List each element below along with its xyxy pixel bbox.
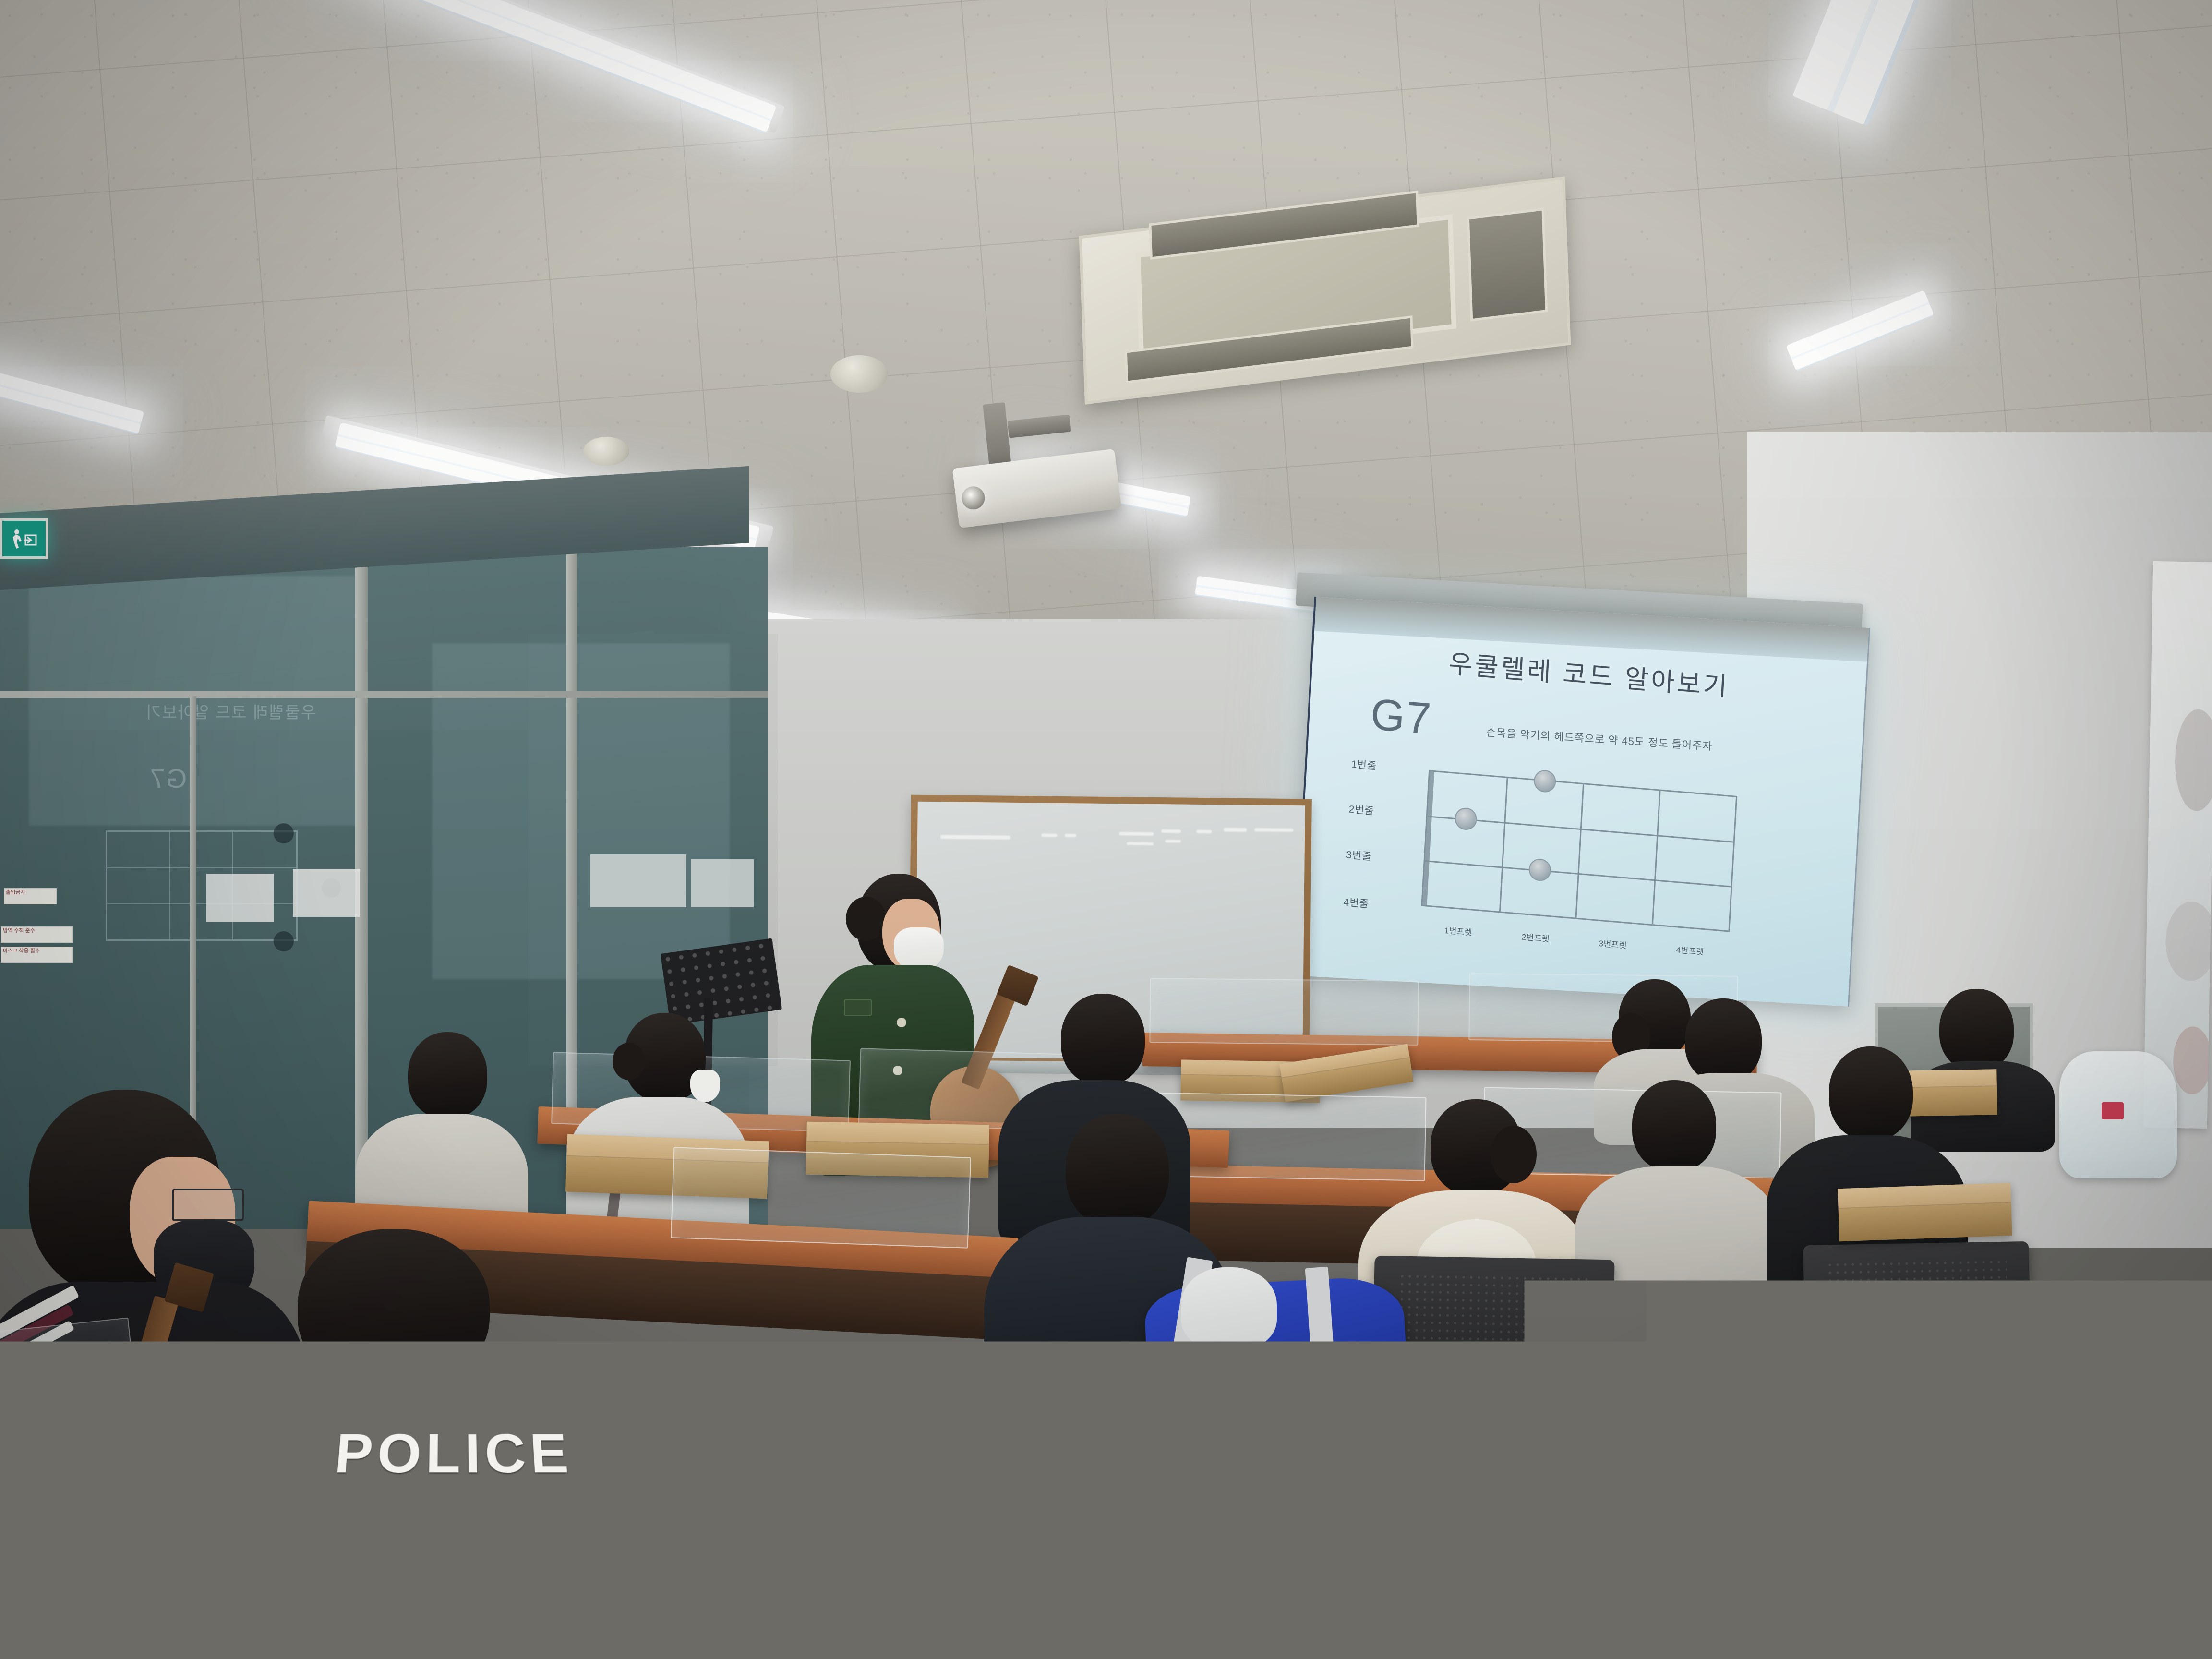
string-label-2: 2번줄 [1348, 802, 1375, 818]
chair [1290, 1561, 1743, 1659]
reflected-finger-dot [274, 931, 294, 951]
finger-dot-string3-fret2 [1528, 858, 1551, 882]
slide-chord-name: G7 [1369, 689, 1433, 745]
jacket-sleeve-right [614, 1407, 744, 1659]
projection-screen: 우쿨렐레 코드 알아보기 G7 손목을 악기의 헤드쪽으로 약 45도 정도 틀… [1293, 597, 1870, 1007]
jacket-pocket-flap [844, 999, 872, 1016]
classroom-photo: 우쿨렐레 코드 알아보기 G7 출입금지 방역 수칙 준수 마스크 착용 필수 [0, 0, 2212, 1659]
slide-note: 손목을 악기의 헤드쪽으로 약 45도 정도 틀어주자 [1486, 724, 1713, 754]
chair [70, 1550, 382, 1659]
glass-room-paper [293, 869, 360, 917]
acrylic-divider [671, 1147, 971, 1249]
wall-poster [2143, 561, 2212, 1129]
string-label-3: 3번줄 [1346, 847, 1372, 863]
glass-room-poster [590, 854, 686, 907]
acrylic-divider-front-left [0, 1317, 149, 1534]
ceiling-dome-light [583, 437, 629, 466]
reflected-slide-title: 우쿨렐레 코드 알아보기 [62, 701, 398, 725]
plastic-bag [2059, 1051, 2177, 1178]
finger-dot-string2-fret1 [1454, 807, 1477, 831]
glass-transom [0, 691, 768, 698]
chord-diagram-grid [1421, 770, 1738, 932]
fret-label-4: 4번프렛 [1676, 943, 1705, 957]
ceiling-dome-light [830, 355, 888, 393]
string-label-4: 4번줄 [1343, 894, 1370, 911]
slide: 우쿨렐레 코드 알아보기 G7 손목을 악기의 헤드쪽으로 약 45도 정도 틀… [1296, 597, 1869, 1007]
fret-label-2: 2번프렛 [1521, 930, 1550, 944]
fret-label-1: 1번프렛 [1444, 923, 1473, 938]
face-mask [690, 1070, 720, 1102]
white-cap [1181, 1267, 1277, 1349]
glasses-icon [172, 1189, 244, 1221]
glass-room-paper [206, 874, 274, 922]
notice-sticker: 출입금지 [4, 888, 57, 904]
jacket-button [897, 1018, 906, 1027]
chair [1803, 1241, 2032, 1452]
string-label-1: 1번줄 [1351, 756, 1377, 772]
notice-sticker: 마스크 착용 필수 [1, 947, 73, 963]
jacket-emblem [418, 1546, 504, 1608]
reflected-finger-dot [274, 823, 294, 843]
fret-label-3: 3번프렛 [1599, 936, 1627, 950]
notice-sticker: 방역 수칙 준수 [1, 926, 73, 943]
finger-dot-string1-fret2 [1533, 769, 1556, 793]
reflected-slide-chord: G7 [96, 758, 240, 799]
emergency-exit-icon [0, 518, 48, 559]
jacket-patch [154, 1382, 211, 1426]
glass-room-poster [691, 859, 754, 907]
ukulele-box [1838, 1183, 2012, 1241]
